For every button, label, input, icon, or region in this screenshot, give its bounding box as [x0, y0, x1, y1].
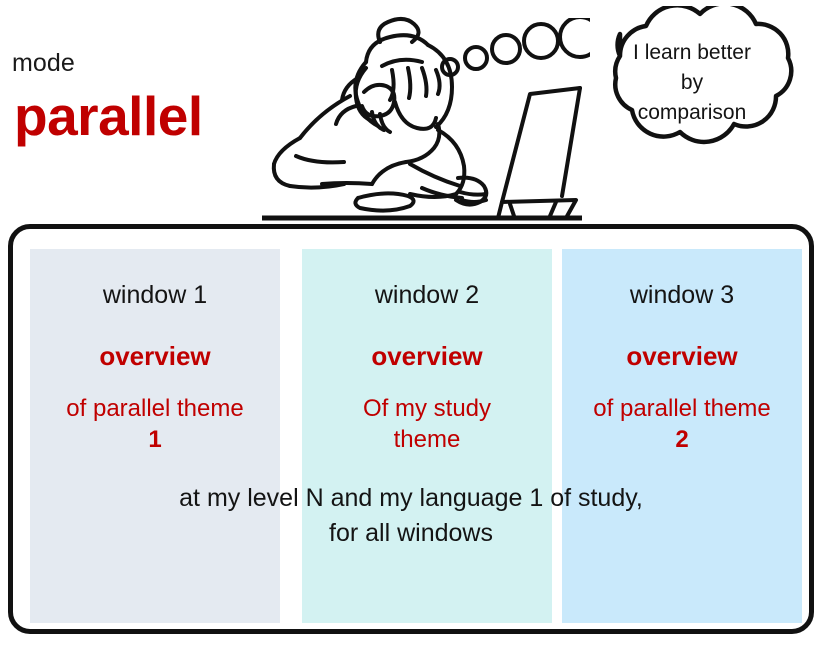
window-3-subtitle-text: of parallel theme [593, 395, 770, 422]
slide-canvas: mode parallel [0, 0, 828, 645]
window-3-subtitle-number: 2 [562, 424, 802, 455]
window-panel-2[interactable]: window 2 overview Of my study theme [302, 249, 552, 623]
windows-frame: window 1 overview of parallel theme 1 wi… [8, 224, 814, 634]
window-3-title: window 3 [562, 281, 802, 310]
window-3-overview: overview [562, 341, 802, 371]
window-2-title: window 2 [302, 281, 552, 310]
window-1-title: window 1 [30, 281, 280, 310]
thought-bubble-line-2: by [596, 68, 788, 98]
window-2-subtitle: Of my study theme [302, 393, 552, 455]
window-panel-3[interactable]: window 3 overview of parallel theme 2 [562, 249, 802, 623]
window-1-subtitle-number: 1 [30, 424, 280, 455]
window-1-overview: overview [30, 341, 280, 371]
window-3-subtitle: of parallel theme 2 [562, 393, 802, 455]
window-panel-1[interactable]: window 1 overview of parallel theme 1 [30, 249, 280, 623]
window-1-subtitle: of parallel theme 1 [30, 393, 280, 455]
window-2-overview: overview [302, 341, 552, 371]
mode-label: mode [12, 48, 75, 78]
window-2-subtitle-number: theme [302, 424, 552, 455]
window-2-subtitle-text: Of my study [363, 395, 491, 422]
window-1-subtitle-text: of parallel theme [66, 395, 243, 422]
thought-bubble-line-1: I learn better [596, 38, 788, 68]
thought-bubble-line-3: comparison [596, 98, 788, 128]
thought-bubble-text: I learn better by comparison [596, 38, 788, 128]
mode-value: parallel [14, 85, 203, 147]
